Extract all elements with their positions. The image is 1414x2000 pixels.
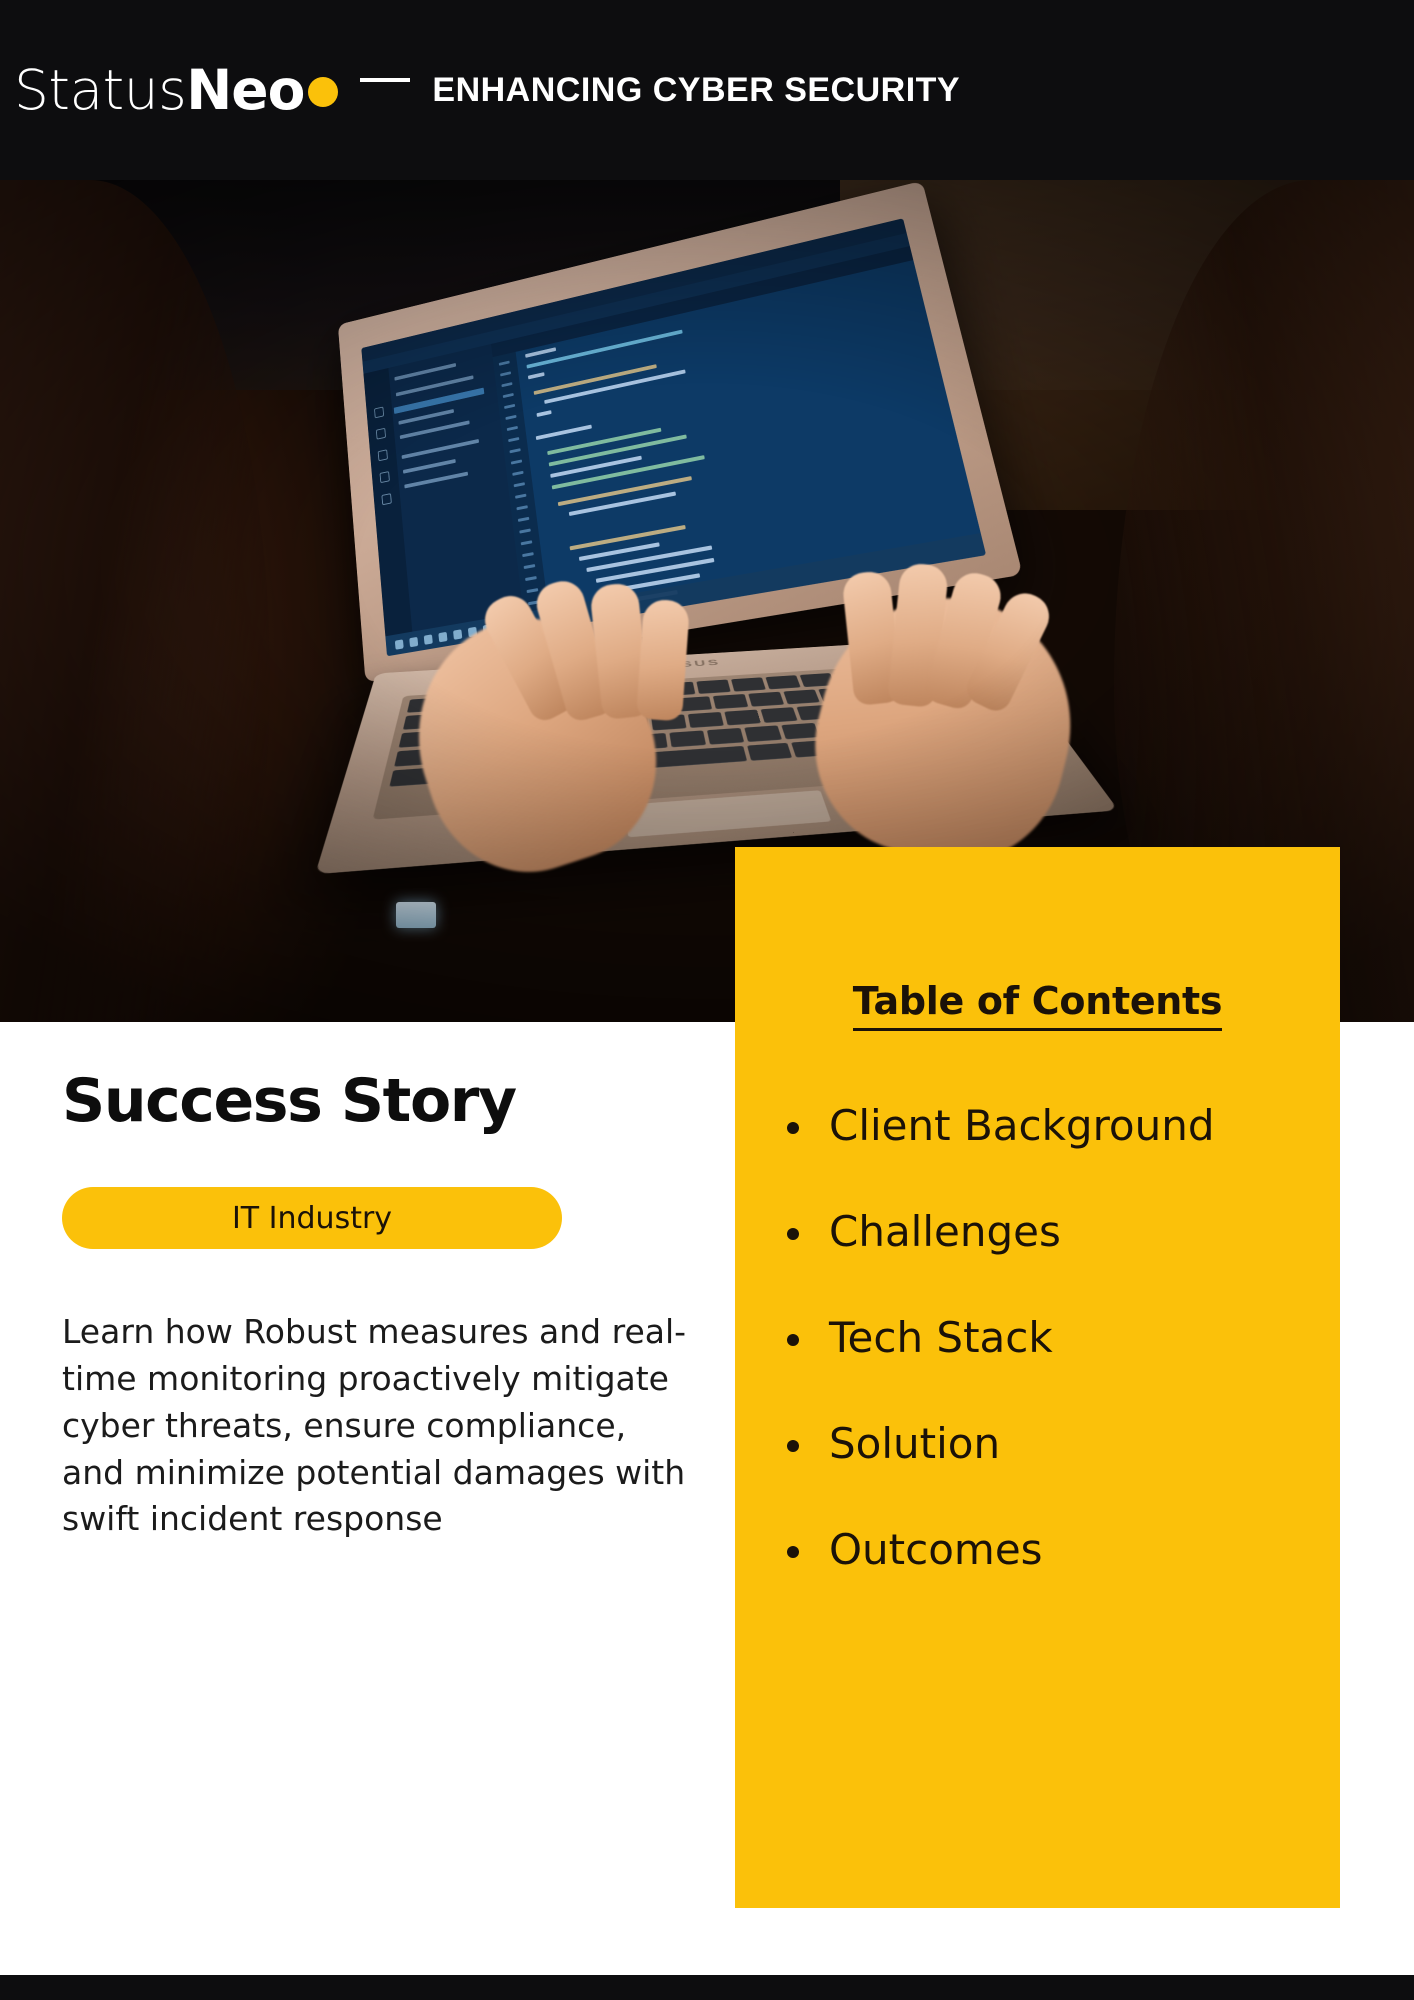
industry-badge: IT Industry [62,1187,562,1249]
circle-dot-icon [308,77,338,107]
page-footer-bar [0,1975,1414,2000]
logo-secondary-text: Neo [186,58,304,122]
lede-paragraph: Learn how Robust measures and real-time … [62,1309,687,1543]
toc-item-label: Solution [829,1423,1000,1465]
toc-heading: Table of Contents [735,979,1340,1023]
toc-item-solution[interactable]: Solution [787,1423,1340,1465]
bullet-icon [787,1228,799,1240]
toc-item-tech-stack[interactable]: Tech Stack [787,1317,1340,1359]
toc-item-label: Client Background [829,1105,1215,1147]
statusneo-logo[interactable]: Status Neo [14,58,338,122]
page-header: Status Neo ENHANCING CYBER SECURITY [0,0,1414,180]
toc-item-client-background[interactable]: Client Background [787,1105,1340,1147]
toc-item-label: Tech Stack [829,1317,1053,1359]
table-of-contents-panel: Table of Contents Client Background Chal… [735,847,1340,1908]
logo-primary-text: Status [14,58,186,122]
toc-item-challenges[interactable]: Challenges [787,1211,1340,1253]
bullet-icon [787,1122,799,1134]
toc-item-label: Challenges [829,1211,1061,1253]
toc-item-outcomes[interactable]: Outcomes [787,1529,1340,1571]
success-story-page: Status Neo ENHANCING CYBER SECURITY [0,0,1414,2000]
bullet-icon [787,1334,799,1346]
header-title: ENHANCING CYBER SECURITY [432,71,960,110]
bullet-icon [787,1546,799,1558]
toc-heading-text: Table of Contents [853,979,1222,1031]
page-title: Success Story [62,1070,702,1133]
horizontal-dash-icon [360,78,410,82]
bullet-icon [787,1440,799,1452]
toc-item-label: Outcomes [829,1529,1043,1571]
toc-list: Client Background Challenges Tech Stack … [735,1105,1340,1571]
left-content-column: Success Story IT Industry Learn how Robu… [62,1070,702,1543]
